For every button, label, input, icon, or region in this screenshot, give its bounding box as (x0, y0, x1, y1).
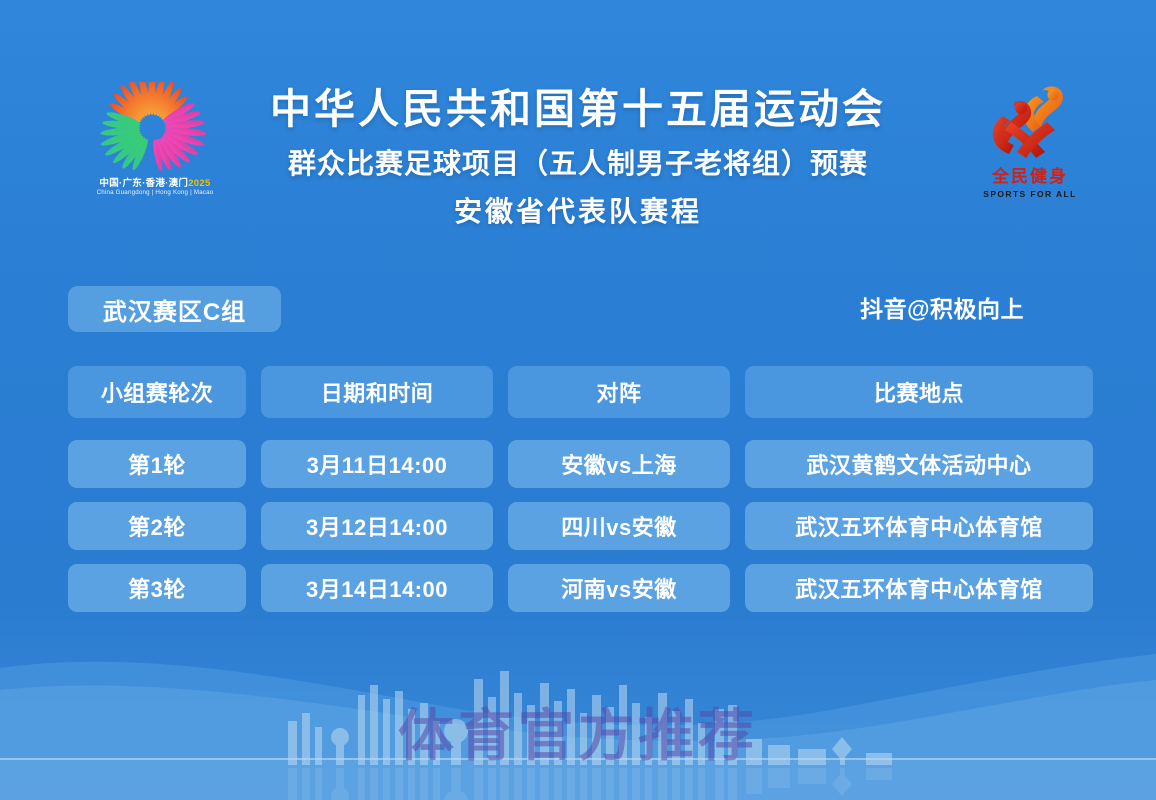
poster-header: 中国·广东·香港·澳门2025 China Guangdong | Hong K… (0, 78, 1156, 268)
games-burst-icon (96, 82, 208, 178)
table-row: 第1轮 3月11日14:00 安徽vs上海 武汉黄鹤文体活动中心 (68, 440, 1090, 488)
cell-venue: 武汉黄鹤文体活动中心 (745, 440, 1093, 488)
cell-round: 第2轮 (68, 502, 246, 550)
games-logo-year: 2025 (188, 178, 210, 189)
column-header-match: 对阵 (508, 366, 730, 418)
games-logo-cities: 中国·广东·香港·澳门 (99, 178, 188, 189)
sports-for-all-figures-icon (975, 78, 1085, 170)
page-subtitle-event: 群众比赛足球项目（五人制男子老将组）预赛 (228, 145, 928, 183)
watermark-text: 体育官方推荐 (0, 691, 1156, 772)
schedule-table: 小组赛轮次 日期和时间 对阵 比赛地点 第1轮 3月11日14:00 安徽vs上… (68, 366, 1090, 626)
cell-venue: 武汉五环体育中心体育馆 (745, 564, 1093, 612)
column-header-venue: 比赛地点 (745, 366, 1093, 418)
page-subtitle-team: 安徽省代表队赛程 (228, 193, 928, 231)
poster-canvas: 中国·广东·香港·澳门2025 China Guangdong | Hong K… (0, 0, 1156, 800)
city-skyline-reflection-icon (270, 768, 910, 800)
title-block: 中华人民共和国第十五届运动会 群众比赛足球项目（五人制男子老将组）预赛 安徽省代… (228, 84, 928, 231)
table-row: 第3轮 3月14日14:00 河南vs安徽 武汉五环体育中心体育馆 (68, 564, 1090, 612)
social-handle: 抖音@积极向上 (860, 290, 1024, 324)
cell-match: 安徽vs上海 (508, 440, 730, 488)
cell-datetime: 3月11日14:00 (261, 440, 493, 488)
city-skyline-icon (270, 665, 910, 765)
bottom-decoration: 体育官方推荐 (0, 630, 1156, 800)
table-row: 第2轮 3月12日14:00 四川vs安徽 武汉五环体育中心体育馆 (68, 502, 1090, 550)
cell-round: 第1轮 (68, 440, 246, 488)
page-title: 中华人民共和国第十五届运动会 (228, 84, 928, 135)
cell-venue: 武汉五环体育中心体育馆 (745, 502, 1093, 550)
games-logo-caption: 中国·广东·香港·澳门2025 China Guangdong | Hong K… (96, 179, 214, 196)
cell-match: 河南vs安徽 (508, 564, 730, 612)
cell-datetime: 3月14日14:00 (261, 564, 493, 612)
cell-match: 四川vs安徽 (508, 502, 730, 550)
column-header-round: 小组赛轮次 (68, 366, 246, 418)
15th-national-games-logo: 中国·广东·香港·澳门2025 China Guangdong | Hong K… (96, 82, 214, 200)
sports-for-all-label-cn: 全民健身 (966, 168, 1094, 187)
sports-for-all-label-en: SPORTS FOR ALL (966, 189, 1094, 199)
cell-datetime: 3月12日14:00 (261, 502, 493, 550)
meta-row: 武汉赛区C组 抖音@积极向上 (0, 286, 1156, 336)
cell-round: 第3轮 (68, 564, 246, 612)
status-badge: 武汉赛区C组 (68, 286, 281, 332)
games-logo-cities-en: China Guangdong | Hong Kong | Macao (96, 190, 214, 197)
column-header-datetime: 日期和时间 (261, 366, 493, 418)
table-header-row: 小组赛轮次 日期和时间 对阵 比赛地点 (68, 366, 1090, 418)
sports-for-all-logo: 全民健身 SPORTS FOR ALL (966, 78, 1094, 218)
wave-decoration (0, 630, 1156, 800)
